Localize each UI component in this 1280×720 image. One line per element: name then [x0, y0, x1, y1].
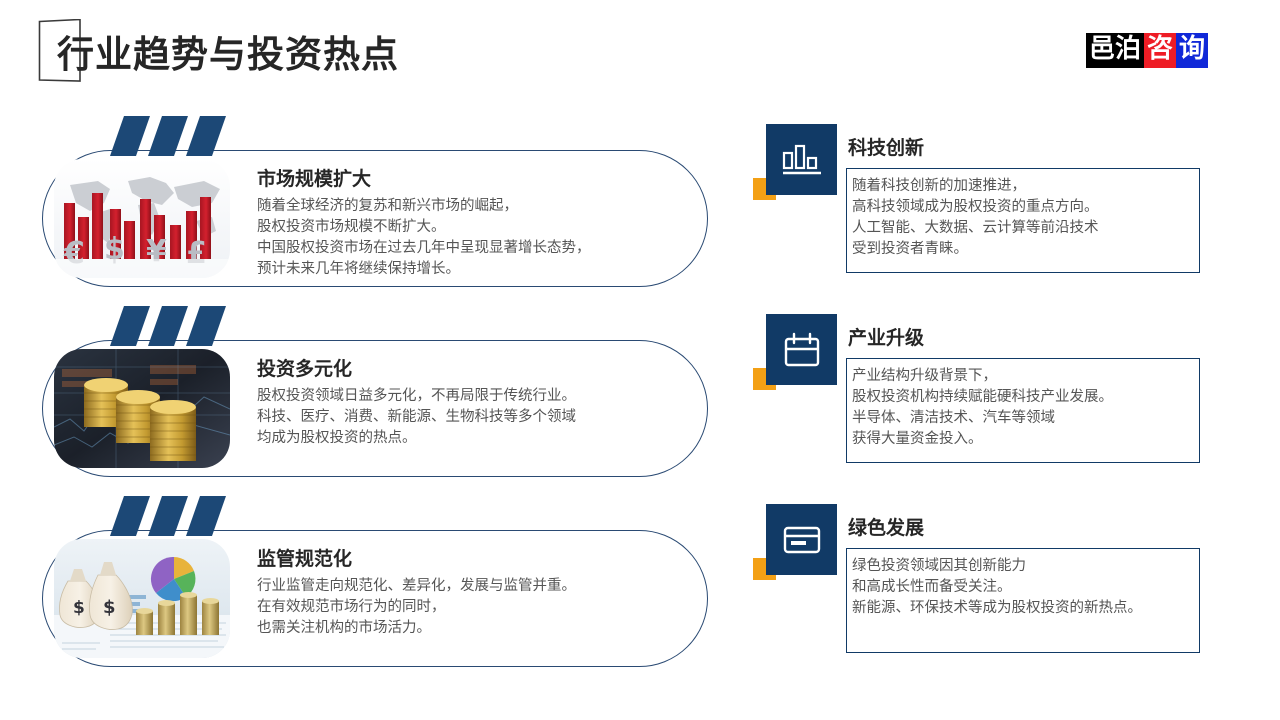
pill-body: 市场规模扩大 随着全球经济的复苏和新兴市场的崛起， 股权投资市场规模不断扩大。 … [257, 164, 687, 280]
topic-card-text: 产业结构升级背景下， 股权投资机构持续赋能硬科技产业发展。 半导体、清洁技术、汽… [852, 366, 1197, 450]
pill-card-text: 随着全球经济的复苏和新兴市场的崛起， 股权投资市场规模不断扩大。 中国股权投资市… [257, 196, 687, 280]
topic-card-tech-innovation[interactable]: 科技创新 随着科技创新的加速推进， 高科技领域成为股权投资的重点方向。 人工智能… [753, 124, 1200, 289]
pill-card-title: 投资多元化 [257, 354, 687, 381]
trend-pill-card-market-scale[interactable]: € $ ¥ £ 市场规模扩大 随着全球经济的复苏和新兴市场的崛起， 股权投资市场… [42, 150, 708, 287]
topic-card-text: 随着科技创新的加速推进， 高科技领域成为股权投资的重点方向。 人工智能、大数据、… [852, 176, 1197, 260]
pill-body: 监管规范化 行业监管走向规范化、差异化，发展与监管并重。 在有效规范市场行为的同… [257, 544, 687, 639]
logo-text-part2: 咨 [1144, 33, 1176, 68]
pill-card-text: 股权投资领域日益多元化，不再局限于传统行业。 科技、医疗、消费、新能源、生物科技… [257, 386, 687, 449]
bar-chart-icon [766, 124, 837, 195]
pill-card-title: 市场规模扩大 [257, 164, 687, 191]
diagonal-stripes-decoration [110, 496, 230, 536]
topic-card-industry-upgrade[interactable]: 产业升级 产业结构升级背景下， 股权投资机构持续赋能硬科技产业发展。 半导体、清… [753, 314, 1200, 479]
diagonal-stripes-decoration [110, 116, 230, 156]
thumbnail-money-bags-pie-chart: $ $ [54, 539, 230, 658]
pill-card-text: 行业监管走向规范化、差异化，发展与监管并重。 在有效规范市场行为的同时， 也需关… [257, 576, 687, 639]
topic-card-text: 绿色投资领域因其创新能力 和高成长性而备受关注。 新能源、环保技术等成为股权投资… [852, 556, 1197, 619]
icon-tile [766, 504, 837, 575]
icon-tile [766, 124, 837, 195]
pill-body: 投资多元化 股权投资领域日益多元化，不再局限于传统行业。 科技、医疗、消费、新能… [257, 354, 687, 449]
pill-card-title: 监管规范化 [257, 544, 687, 571]
logo-text-part3: 询 [1176, 33, 1208, 68]
svg-text:$: $ [103, 597, 116, 618]
topic-card-title: 产业升级 [848, 323, 924, 350]
credit-card-icon [766, 504, 837, 575]
trend-pill-card-regulation[interactable]: $ $ 监管规范化 行业监管走向规范化、差异化，发展与监管并重。 在有效规范市场… [42, 530, 708, 667]
topic-card-green-development[interactable]: 绿色发展 绿色投资领域因其创新能力 和高成长性而备受关注。 新能源、环保技术等成… [753, 504, 1200, 669]
logo-text-part1: 邑泊 [1086, 33, 1144, 68]
page-title: 行业趋势与投资热点 [57, 24, 399, 78]
thumbnail-gold-coins-chart [54, 349, 230, 468]
topic-card-title: 科技创新 [848, 133, 924, 160]
topic-card-title: 绿色发展 [848, 513, 924, 540]
slide-header: 行业趋势与投资热点 邑泊 咨 询 [0, 0, 1280, 100]
icon-tile [766, 314, 837, 385]
brand-logo: 邑泊 咨 询 [1086, 33, 1208, 68]
diagonal-stripes-decoration [110, 306, 230, 346]
trend-pill-card-diversification[interactable]: 投资多元化 股权投资领域日益多元化，不再局限于传统行业。 科技、医疗、消费、新能… [42, 340, 708, 477]
svg-text:$: $ [73, 598, 85, 618]
calendar-icon [766, 314, 837, 385]
thumbnail-world-map-bar-chart: € $ ¥ £ [54, 159, 230, 278]
